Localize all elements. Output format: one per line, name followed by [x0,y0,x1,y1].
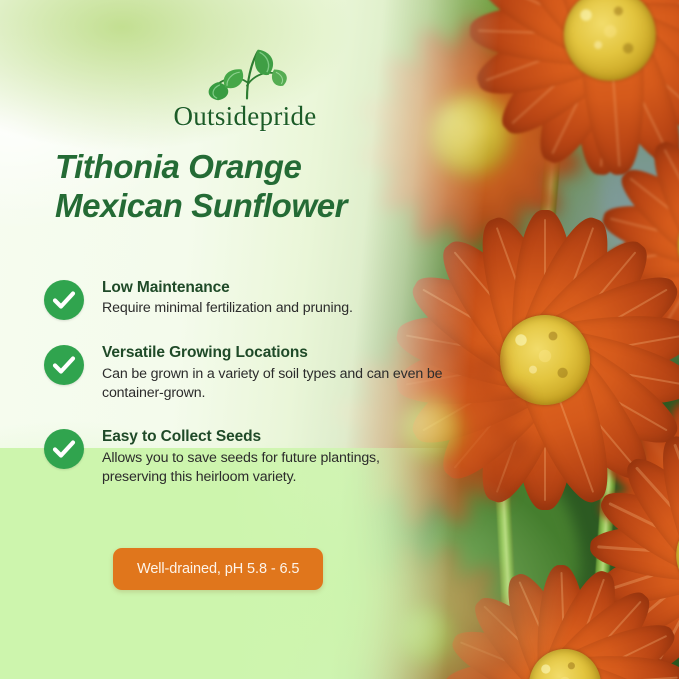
feature-list: Low Maintenance Require minimal fertiliz… [44,278,444,512]
checkmark-glyph [52,438,76,460]
checkmark-glyph [52,289,76,311]
page-title: Tithonia Orange Mexican Sunflower [55,148,475,226]
feature-item: Versatile Growing Locations Can be grown… [44,343,444,402]
check-circle-icon [44,429,84,469]
feature-title: Easy to Collect Seeds [102,427,444,446]
title-line-2: Mexican Sunflower [55,187,475,226]
card-content: Outsidepride Tithonia Orange Mexican Sun… [0,0,679,679]
brand-logo[interactable]: Outsidepride [140,46,350,130]
soil-requirement-badge: Well-drained, pH 5.8 - 6.5 [113,548,323,590]
feature-description: Can be grown in a variety of soil types … [102,365,444,403]
check-circle-icon [44,280,84,320]
product-info-card: Outsidepride Tithonia Orange Mexican Sun… [0,0,679,679]
feature-item: Low Maintenance Require minimal fertiliz… [44,278,444,318]
feature-description: Allows you to save seeds for future plan… [102,449,444,487]
feature-item: Easy to Collect Seeds Allows you to save… [44,427,444,486]
leaf-sprig-icon [191,46,299,102]
feature-title: Versatile Growing Locations [102,343,444,362]
feature-description: Require minimal fertilization and prunin… [102,299,444,318]
feature-title: Low Maintenance [102,278,444,297]
brand-name: Outsidepride [140,103,350,130]
check-circle-icon [44,345,84,385]
title-line-1: Tithonia Orange [55,148,301,185]
checkmark-glyph [52,354,76,376]
